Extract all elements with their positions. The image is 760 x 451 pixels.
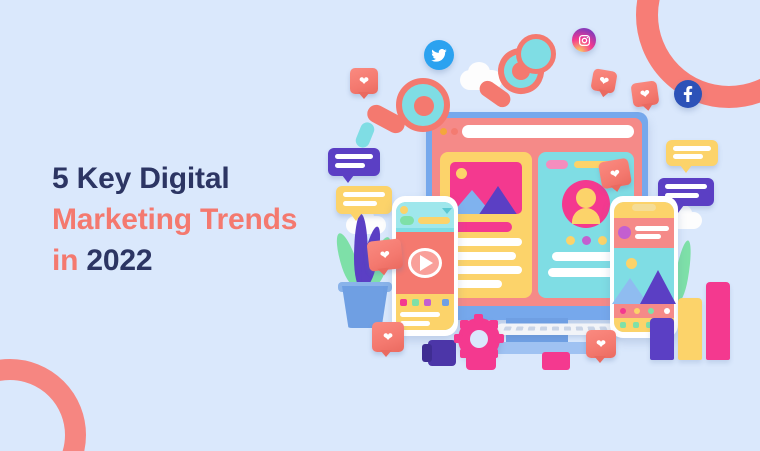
instagram-icon[interactable] — [572, 28, 596, 52]
chart-bar — [706, 282, 730, 360]
chat-bubble-icon — [336, 186, 392, 214]
dot-indicator — [566, 236, 575, 245]
search-icon[interactable] — [633, 322, 639, 328]
dot-indicator — [598, 236, 607, 245]
heart-icon[interactable] — [400, 299, 407, 306]
thumb-icon[interactable] — [648, 308, 654, 314]
comment-icon[interactable] — [412, 299, 419, 306]
headline-line-3-year: 2022 — [86, 244, 152, 277]
corner-arc-bottom-left-decoration — [0, 359, 86, 451]
tag-pill — [546, 160, 568, 169]
text-line — [450, 238, 522, 246]
heart-icon[interactable] — [620, 308, 626, 314]
heart-icon: ❤ — [609, 167, 621, 181]
headline-line-3: in 2022 — [52, 242, 352, 279]
share-icon[interactable] — [664, 308, 670, 314]
headline-block: 5 Key Digital Marketing Trends in 2022 — [52, 160, 352, 280]
chevron-down-icon[interactable] — [442, 208, 452, 214]
like-badge[interactable]: ❤ — [590, 68, 617, 94]
smile-icon[interactable] — [634, 308, 640, 314]
hero-illustration: ❤ ❤ ❤ ❤ ❤ ❤ ❤ — [310, 0, 760, 451]
headline-line-1: 5 Key Digital — [52, 160, 352, 197]
mountain-shape — [640, 270, 676, 304]
twitter-icon[interactable] — [424, 40, 454, 70]
phone-notch — [632, 204, 656, 211]
gear-icon — [466, 352, 496, 370]
heart-icon: ❤ — [379, 249, 390, 262]
text-line — [418, 217, 450, 224]
text-line — [450, 252, 516, 260]
home-icon[interactable] — [620, 322, 626, 328]
text-line — [400, 321, 430, 326]
heart-icon: ❤ — [359, 75, 369, 87]
megaphone-grip — [354, 120, 377, 149]
text-line — [450, 266, 522, 274]
decorative-block — [542, 352, 570, 370]
megaphone-core — [414, 96, 434, 116]
heart-icon: ❤ — [383, 331, 393, 343]
cloud-icon — [468, 62, 490, 82]
like-badge[interactable]: ❤ — [367, 238, 404, 271]
marketing-banner: 5 Key Digital Marketing Trends in 2022 — [0, 0, 760, 451]
gear-center-hole — [470, 330, 488, 348]
text-line — [635, 226, 669, 231]
gear-icon — [422, 344, 432, 362]
heart-icon: ❤ — [598, 74, 610, 88]
like-badge[interactable]: ❤ — [586, 330, 616, 358]
dot-indicator — [582, 236, 591, 245]
bookmark-icon[interactable] — [442, 299, 449, 306]
heart-icon: ❤ — [639, 87, 651, 100]
avatar — [400, 206, 408, 214]
status-badge — [400, 216, 414, 225]
facebook-icon[interactable] — [674, 80, 702, 108]
chart-bar — [650, 318, 674, 360]
megaphone-icon — [516, 34, 556, 74]
chat-bubble-icon — [666, 140, 718, 166]
text-line — [450, 222, 512, 232]
share-icon[interactable] — [424, 299, 431, 306]
like-badge[interactable]: ❤ — [630, 80, 659, 107]
heart-icon: ❤ — [596, 338, 606, 350]
sun-icon — [626, 258, 637, 269]
chat-bubble-icon — [328, 148, 380, 176]
text-line — [635, 234, 661, 239]
headline-line-2: Marketing Trends — [52, 201, 352, 238]
like-badge[interactable]: ❤ — [350, 68, 378, 94]
browser-dot-icon — [440, 128, 447, 135]
like-badge[interactable]: ❤ — [598, 158, 632, 190]
browser-dot-icon — [451, 128, 458, 135]
chart-bar — [678, 298, 702, 360]
gear-icon — [428, 340, 456, 366]
text-line — [400, 312, 440, 317]
avatar-head — [576, 188, 596, 208]
like-badge[interactable]: ❤ — [372, 322, 404, 352]
headline-line-3-prefix: in — [52, 244, 86, 277]
sun-icon — [456, 168, 467, 179]
avatar — [618, 226, 631, 239]
play-icon — [420, 255, 433, 271]
text-line — [552, 252, 618, 261]
browser-url-bar[interactable] — [462, 125, 634, 138]
